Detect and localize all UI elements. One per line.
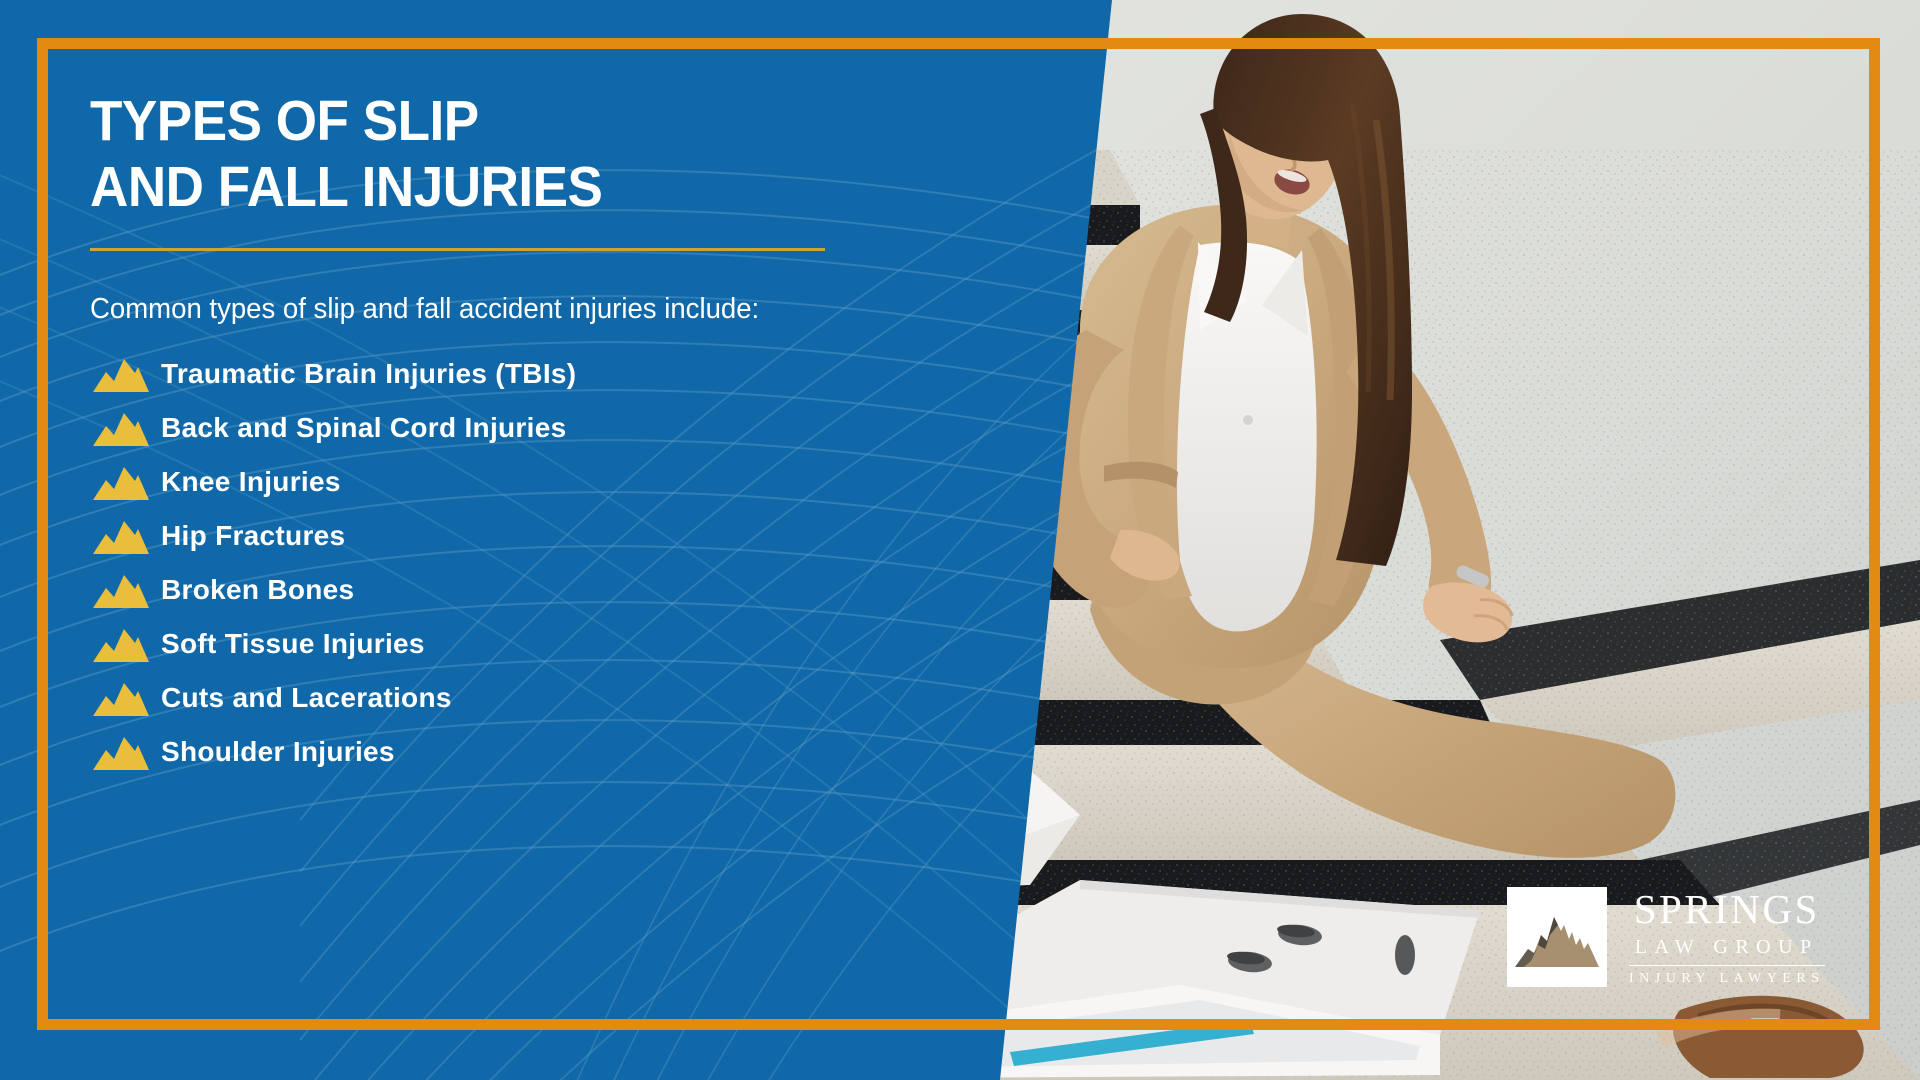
injury-list: Traumatic Brain Injuries (TBIs) Back and… [90,347,970,779]
intro-text: Common types of slip and fall accident i… [90,291,926,329]
injury-label: Back and Spinal Cord Injuries [161,412,566,444]
injury-label: Broken Bones [161,574,354,606]
list-item: Broken Bones [90,563,970,617]
list-item: Hip Fractures [90,509,970,563]
panel-content: TYPES OF SLIP AND FALL INJURIES Common t… [90,88,970,779]
injury-label: Shoulder Injuries [161,736,395,768]
mountain-icon [90,571,152,609]
page-title: TYPES OF SLIP AND FALL INJURIES [90,88,908,220]
logo-rule [1629,965,1825,966]
list-item: Traumatic Brain Injuries (TBIs) [90,347,970,401]
list-item: Cuts and Lacerations [90,671,970,725]
injury-label: Cuts and Lacerations [161,682,452,714]
mountain-icon [90,409,152,447]
injury-label: Soft Tissue Injuries [161,628,425,660]
mountain-range-icon [1514,905,1600,969]
injury-label: Hip Fractures [161,520,345,552]
list-item: Soft Tissue Injuries [90,617,970,671]
logo-subtitle: LAW GROUP [1629,937,1825,957]
logo-name: SPRINGS [1629,889,1825,930]
blue-content-panel: TYPES OF SLIP AND FALL INJURIES Common t… [0,0,1160,1080]
mountain-icon [90,679,152,717]
infographic-canvas: TYPES OF SLIP AND FALL INJURIES Common t… [0,0,1920,1080]
mountain-icon [90,625,152,663]
list-item: Shoulder Injuries [90,725,970,779]
list-item: Back and Spinal Cord Injuries [90,401,970,455]
logo-tagline: INJURY LAWYERS [1629,972,1825,986]
injury-label: Knee Injuries [161,466,341,498]
brand-logo: SPRINGS LAW GROUP INJURY LAWYERS [1507,887,1825,987]
logo-wordmark: SPRINGS LAW GROUP INJURY LAWYERS [1629,889,1825,986]
injury-label: Traumatic Brain Injuries (TBIs) [161,358,576,390]
logo-mark [1507,887,1607,987]
gold-divider [90,248,825,251]
mountain-icon [90,355,152,393]
list-item: Knee Injuries [90,455,970,509]
mountain-icon [90,463,152,501]
mountain-icon [90,517,152,555]
mountain-icon [90,733,152,771]
